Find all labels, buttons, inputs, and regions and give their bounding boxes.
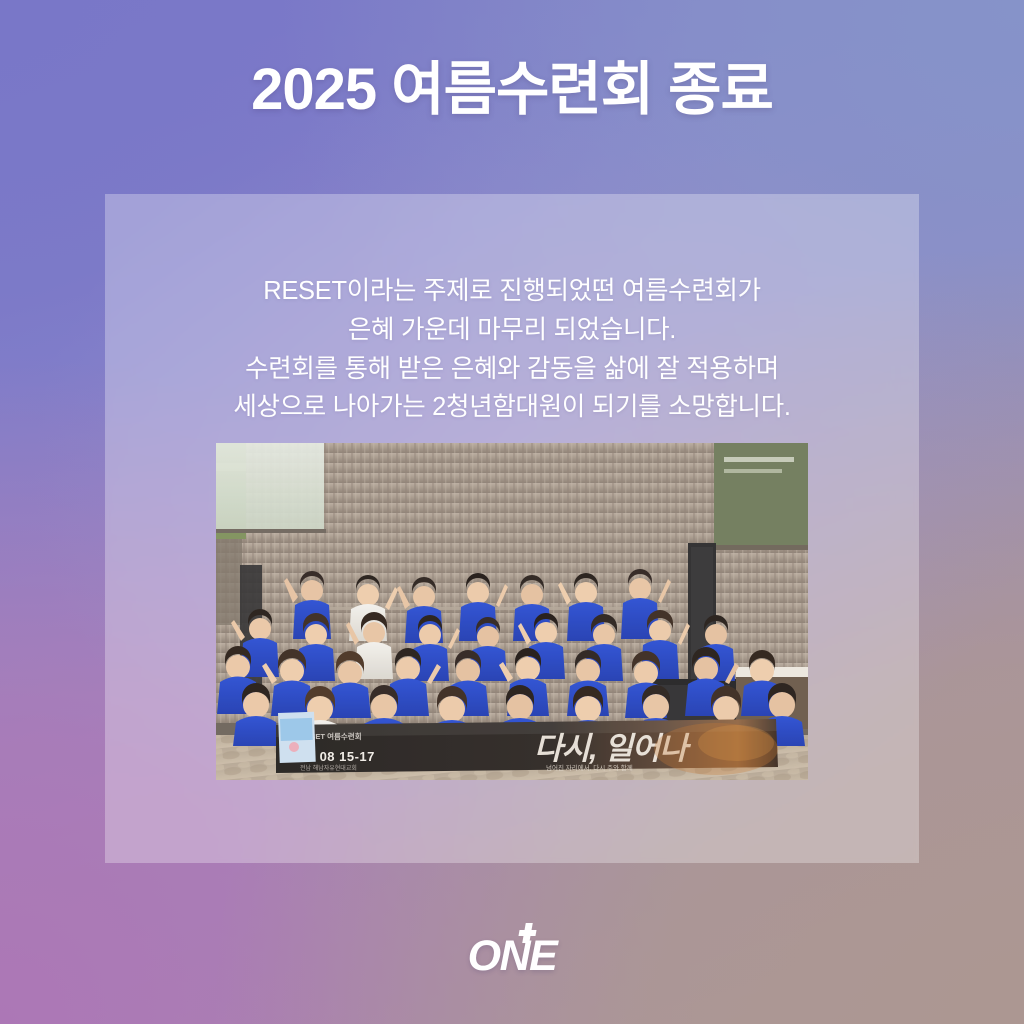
body-text-line-4: 세상으로 나아가는 2청년함대원이 되기를 소망합니다. (105, 388, 919, 427)
poster-canvas: 2025 여름수련회 종료 RESET이라는 주제로 진행되었떤 여름수련회가 … (0, 0, 1024, 1024)
page-title: 2025 여름수련회 종료 (0, 58, 1024, 122)
body-text-line-1: RESET이라는 주제로 진행되었떤 여름수련회가 (105, 272, 919, 311)
group-photo: RESET 여름수련회 25 08 15-17 전남 해남자유현대교회 다시, … (216, 443, 808, 780)
brand-logo-text: ONE (468, 932, 557, 981)
group-photo-illustration: RESET 여름수련회 25 08 15-17 전남 해남자유현대교회 다시, … (216, 443, 808, 780)
content-card: RESET이라는 주제로 진행되었떤 여름수련회가 은혜 가운데 마무리 되었습… (105, 194, 919, 863)
body-text-line-2: 은혜 가운데 마무리 되었습니다. (105, 311, 919, 350)
brand-logo: ONE (0, 932, 1024, 981)
body-text-block: RESET이라는 주제로 진행되었떤 여름수련회가 은혜 가운데 마무리 되었습… (105, 272, 919, 427)
body-text-line-3: 수련회를 통해 받은 은혜와 감동을 삶에 잘 적용하며 (105, 350, 919, 389)
